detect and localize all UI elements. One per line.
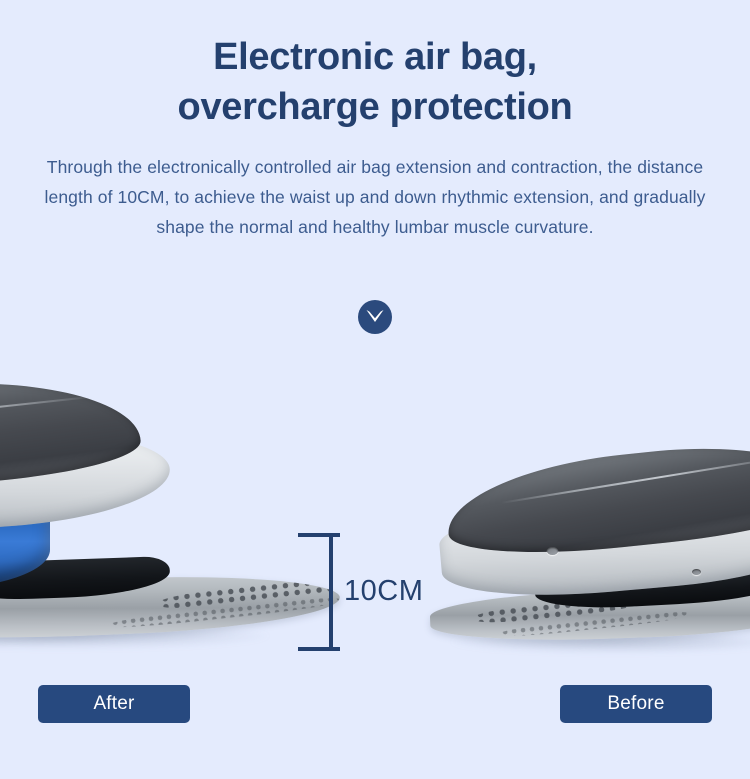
- measurement-bar: [329, 533, 333, 651]
- label-before[interactable]: Before: [560, 685, 712, 723]
- scroll-hint[interactable]: [0, 300, 750, 339]
- device-port-upper-before: [547, 547, 558, 555]
- product-feature-page: Electronic air bag, overcharge protectio…: [0, 0, 750, 779]
- label-after-text: After: [93, 693, 134, 714]
- page-title-line-1: Electronic air bag,: [0, 32, 750, 82]
- page-title-line-2: overcharge protection: [0, 82, 750, 132]
- measurement-value: 10CM: [344, 577, 423, 606]
- product-image-before: [420, 425, 750, 665]
- chevron-down-icon[interactable]: [358, 300, 392, 334]
- device-port-lower-before: [692, 569, 701, 575]
- measurement-indicator: 10CM: [298, 533, 428, 655]
- label-after[interactable]: After: [38, 685, 190, 723]
- comparison-stage: 10CM: [0, 355, 750, 685]
- page-subtitle: Through the electronically controlled ai…: [0, 152, 750, 242]
- measurement-cap-bottom: [298, 647, 340, 651]
- measurement-cap-top: [298, 533, 340, 537]
- label-before-text: Before: [607, 693, 664, 714]
- page-title: Electronic air bag, overcharge protectio…: [0, 32, 750, 132]
- header-section: Electronic air bag, overcharge protectio…: [0, 0, 750, 242]
